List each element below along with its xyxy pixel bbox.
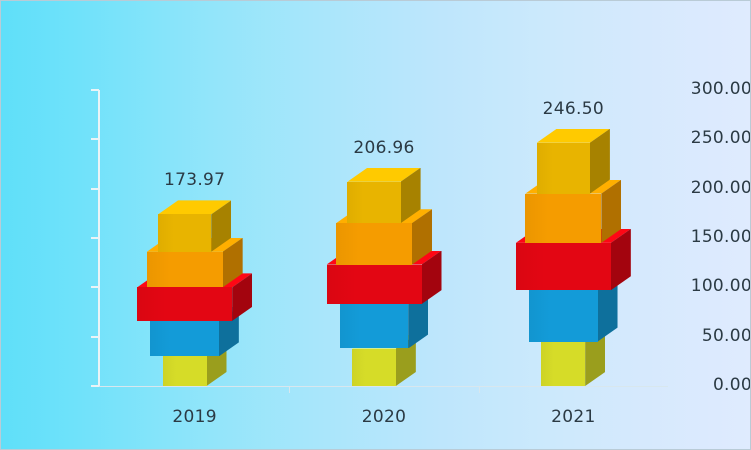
- y-axis-tick-mark: [91, 89, 99, 91]
- bar-total-label: 173.97: [135, 170, 255, 190]
- bar-segment[interactable]: [541, 342, 585, 386]
- bar-segment-front-face: [541, 342, 585, 386]
- bar-segment-front-face: [537, 143, 590, 194]
- bar-total-label: 206.96: [324, 138, 444, 158]
- y-axis-tick-mark: [91, 336, 99, 338]
- bar-segment-front-face: [163, 356, 207, 386]
- y-axis-tick-mark: [91, 286, 99, 288]
- bar-segment[interactable]: [163, 356, 207, 386]
- bar-segment-front-face: [137, 287, 232, 321]
- y-axis-tick-label: 50.00: [670, 328, 751, 345]
- bar-segment[interactable]: [327, 265, 422, 304]
- y-axis-tick-mark: [91, 237, 99, 239]
- y-axis-tick-mark: [91, 138, 99, 140]
- x-axis-category-label: 2019: [135, 407, 255, 427]
- y-axis-tick-mark: [91, 385, 99, 387]
- bar-segment[interactable]: [537, 143, 590, 194]
- y-axis-tick-label: 250.00: [670, 130, 751, 147]
- y-axis-tick-label: 0.00: [670, 377, 751, 394]
- bar-segment[interactable]: [150, 321, 218, 357]
- category-separator: [479, 386, 480, 393]
- bar-segment-front-face: [150, 321, 218, 357]
- category-separator: [289, 386, 290, 393]
- bar-segment[interactable]: [336, 223, 412, 264]
- bar-segment[interactable]: [516, 243, 611, 290]
- bar-segment[interactable]: [137, 287, 232, 321]
- chart-container: 0.0050.00100.00150.00200.00250.00300.00 …: [0, 0, 751, 450]
- x-axis-category-label: 2020: [324, 407, 444, 427]
- bar-segment[interactable]: [352, 349, 396, 386]
- x-axis-line: [98, 386, 668, 387]
- y-axis-tick-label: 150.00: [670, 229, 751, 246]
- y-axis-tick-mark: [91, 188, 99, 190]
- bar-segment-front-face: [147, 252, 223, 288]
- bar-segment-front-face: [529, 290, 597, 341]
- bar-segment-front-face: [340, 304, 408, 348]
- bar-segment[interactable]: [147, 252, 223, 288]
- bar-segment-front-face: [327, 265, 422, 304]
- bar-segment-front-face: [516, 243, 611, 290]
- bar-segment[interactable]: [158, 214, 211, 251]
- bar-segment-front-face: [525, 194, 601, 243]
- bar-segment[interactable]: [340, 304, 408, 348]
- plot-area: 0.0050.00100.00150.00200.00250.00300.00 …: [1, 1, 751, 450]
- bar-segment-front-face: [336, 223, 412, 264]
- bar-segment[interactable]: [525, 194, 601, 243]
- y-axis-tick-label: 200.00: [670, 180, 751, 197]
- bar-segment-front-face: [352, 349, 396, 386]
- x-axis-category-label: 2021: [513, 407, 633, 427]
- y-axis-tick-label: 100.00: [670, 278, 751, 295]
- bar-total-label: 246.50: [513, 99, 633, 119]
- y-axis-tick-label: 300.00: [670, 81, 751, 98]
- bar-segment-front-face: [347, 182, 400, 223]
- bar-segment-front-face: [158, 214, 211, 251]
- bar-segment[interactable]: [529, 290, 597, 341]
- bar-segment[interactable]: [347, 182, 400, 223]
